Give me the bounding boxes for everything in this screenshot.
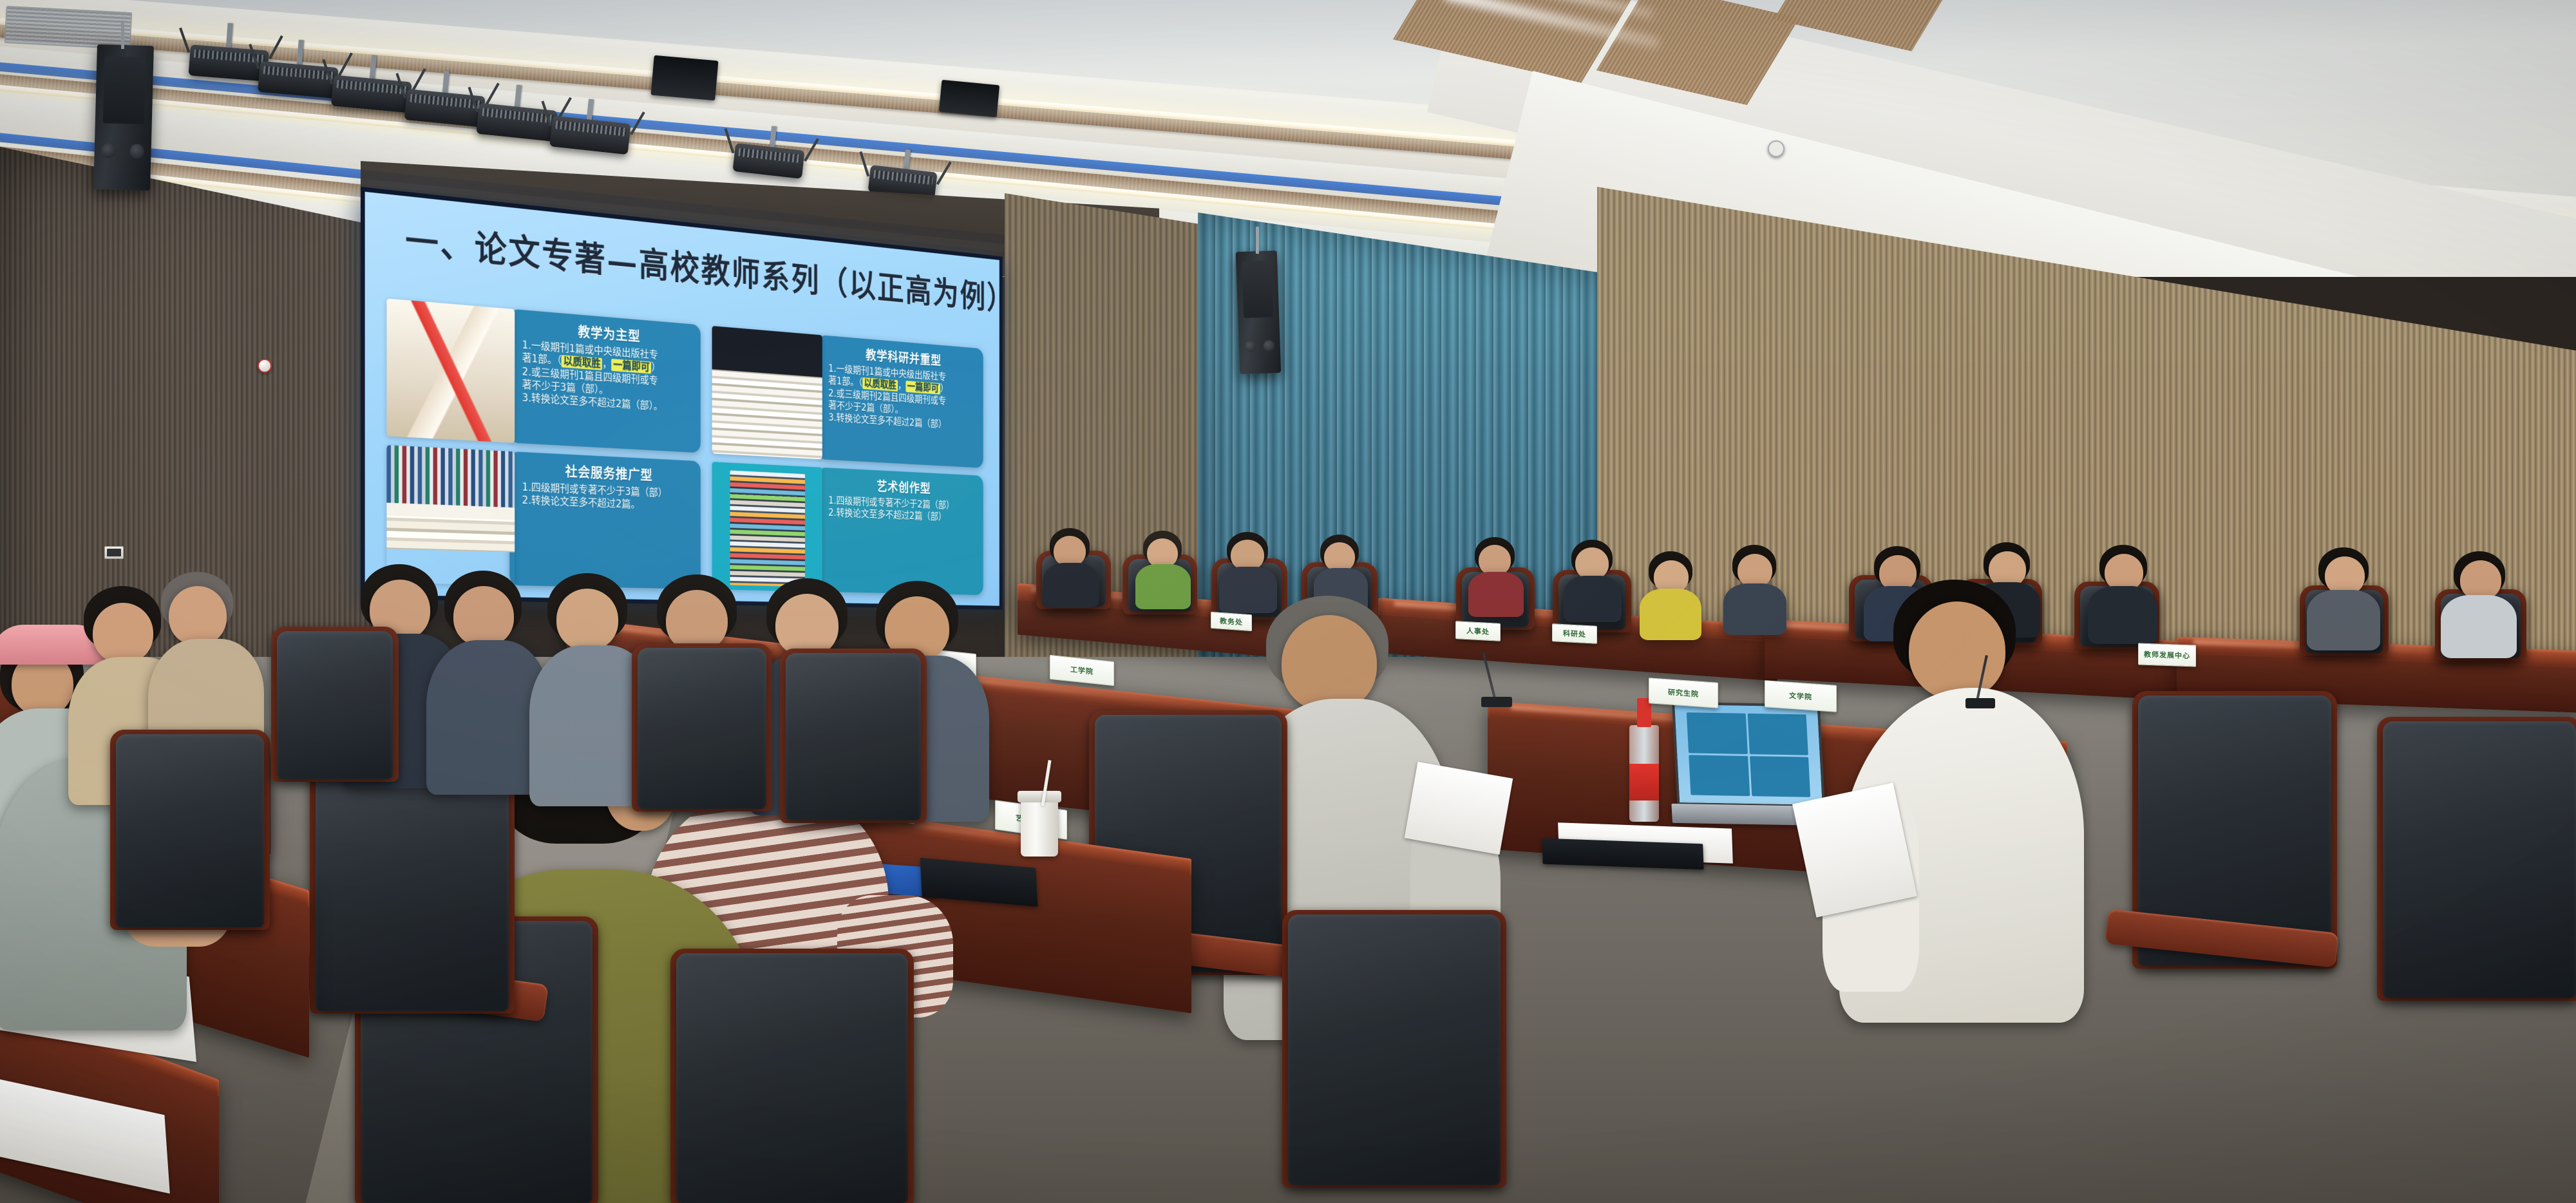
presentation-slide: 一、论文专著—高校教师系列（以正高为例） 教学为主型 1.一级期刊1篇或中央级出… — [365, 192, 999, 606]
slide-card-social-service-extension: 社会服务推广型 1.四级期刊或专著不少于3篇（部） 2.转换论文至多不超过2篇。 — [387, 445, 701, 589]
name-placard: 科研处 — [1552, 623, 1597, 644]
chair[interactable] — [116, 734, 264, 927]
name-placard: 教务处 — [1211, 612, 1252, 631]
smoke-detector-left-wall — [258, 359, 272, 373]
slide-grid: 教学为主型 1.一级期刊1篇或中央级出版社专 著1部。（以质取胜，一篇即可） 2… — [387, 298, 983, 595]
chair[interactable] — [2383, 721, 2576, 998]
slide-card-teaching-research-equal: 教学科研并重型 1.一级期刊1篇或中央级出版社专 著1部。（以质取胜，一篇即可）… — [712, 326, 983, 468]
microphone-base — [1965, 698, 1995, 708]
slide-card-teaching-focused: 教学为主型 1.一级期刊1篇或中央级出版社专 著1部。（以质取胜，一篇即可） 2… — [387, 298, 701, 453]
name-placard: 教师发展中心 — [2138, 643, 2196, 667]
projection-screen: 一、论文专著—高校教师系列（以正高为例） 教学为主型 1.一级期刊1篇或中央级出… — [361, 187, 1003, 610]
placard-text: 文学院 — [1789, 690, 1812, 703]
handout-papers — [1405, 762, 1513, 855]
chair[interactable] — [676, 953, 908, 1203]
placard-text: 工学院 — [1070, 664, 1094, 677]
chair[interactable] — [786, 653, 921, 820]
name-placard: 人事处 — [1455, 621, 1501, 641]
placard-text: 人事处 — [1466, 625, 1490, 637]
smoke-detector — [1768, 140, 1785, 157]
chair[interactable] — [316, 766, 509, 1011]
slide-card-art-creation: 艺术创作型 1.四级期刊或专著不少于2篇（部） 2.转换论文至多不超过2篇（部） — [712, 462, 983, 595]
water-bottle — [1629, 725, 1659, 822]
line-array-speaker-left — [93, 44, 154, 191]
ceiling-projector — [650, 55, 718, 100]
placard-text: 研究生院 — [1668, 687, 1699, 699]
open-book-photo — [387, 298, 515, 443]
presenter-laptop[interactable] — [1672, 702, 1825, 808]
placard-text: 教务处 — [1220, 616, 1243, 628]
chair[interactable] — [1288, 914, 1501, 1185]
ceiling-panel — [939, 80, 999, 117]
stacked-books-photo — [712, 326, 822, 460]
colorful-book-stack-photo — [712, 462, 822, 592]
microphone-base — [1481, 697, 1512, 707]
line-array-speaker-right — [1236, 251, 1282, 374]
chair[interactable] — [277, 631, 393, 779]
chair[interactable] — [638, 648, 766, 809]
wall-switch-plate — [104, 546, 124, 559]
conference-room-scene: 一、论文专著—高校教师系列（以正高为例） 教学为主型 1.一级期刊1篇或中央级出… — [0, 0, 2576, 1203]
name-placard: 文学院 — [1765, 680, 1837, 712]
placard-text: 科研处 — [1563, 628, 1586, 639]
highlight-text: 一篇即可 — [612, 359, 652, 374]
highlight-text: 一篇即可 — [905, 381, 940, 394]
placard-text: 教师发展中心 — [2144, 649, 2190, 661]
card-title: 艺术创作型 — [828, 473, 976, 498]
coffee-cup — [1021, 799, 1058, 857]
name-placard: 研究生院 — [1649, 677, 1718, 708]
highlight-text: 以质取胜 — [862, 377, 898, 392]
highlight-text: 以质取胜 — [562, 355, 602, 370]
air-conditioning-vent — [5, 6, 133, 50]
